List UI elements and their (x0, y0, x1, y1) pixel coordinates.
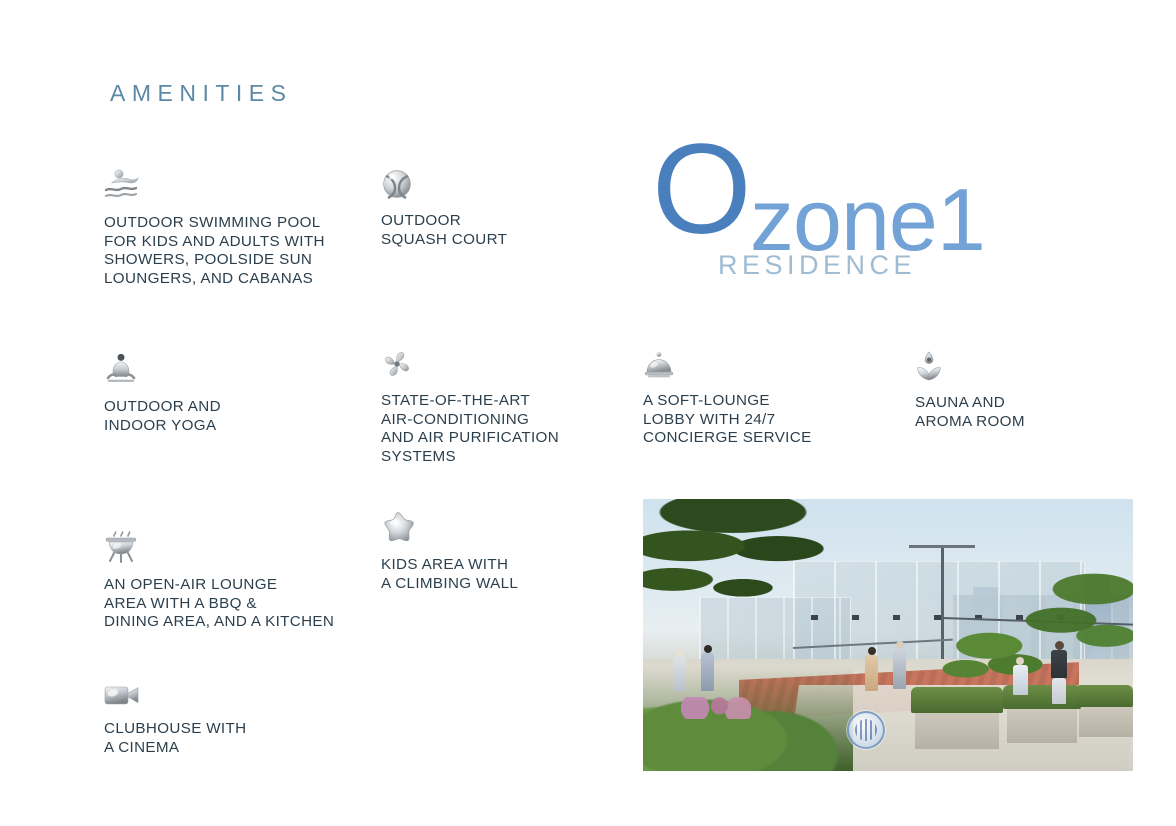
amenity-label: SAUNA AND AROMA ROOM (915, 394, 1115, 431)
amenity-label: AN OPEN-AIR LOUNGE AREA WITH A BBQ & DIN… (104, 576, 394, 632)
rooftop-terrace-photo (643, 499, 1133, 771)
squash-ball-icon (381, 168, 413, 200)
photo-watermark (847, 711, 885, 749)
photo-planter (915, 709, 999, 749)
photo-mast-arm (909, 545, 975, 548)
amenity-item-bbq-lounge: AN OPEN-AIR LOUNGE AREA WITH A BBQ & DIN… (104, 528, 394, 632)
photo-person (865, 647, 878, 691)
amenity-label: STATE-OF-THE-ART AIR-CONDITIONING AND AI… (381, 392, 611, 466)
brand-logo: O zone1 RESIDENCE (652, 132, 982, 292)
amenity-item-concierge-lobby: A SOFT-LOUNGE LOBBY WITH 24/7 CONCIERGE … (643, 350, 883, 448)
photo-flowers (681, 697, 751, 719)
photo-person (701, 645, 714, 691)
photo-planter (1079, 705, 1133, 737)
amenity-item-air-conditioning: STATE-OF-THE-ART AIR-CONDITIONING AND AI… (381, 348, 611, 466)
amenity-label: OUTDOOR SQUASH COURT (381, 212, 601, 249)
photo-person-standing (1051, 641, 1067, 704)
star-kids-icon (381, 510, 415, 544)
video-camera-icon (104, 682, 140, 708)
amenity-label: KIDS AREA WITH A CLIMBING WALL (381, 556, 581, 593)
logo-initial: O (652, 126, 750, 254)
amenity-label: OUTDOOR SWIMMING POOL FOR KIDS AND ADULT… (104, 214, 374, 288)
amenity-label: A SOFT-LOUNGE LOBBY WITH 24/7 CONCIERGE … (643, 392, 883, 448)
yoga-meditation-icon (104, 352, 138, 386)
photo-person-seated (1013, 657, 1028, 695)
photo-person (893, 641, 906, 689)
amenity-item-clubhouse-cinema: CLUBHOUSE WITH A CINEMA (104, 682, 324, 757)
amenity-item-kids-climbing-wall: KIDS AREA WITH A CLIMBING WALL (381, 510, 581, 593)
page-title: AMENITIES (110, 80, 292, 107)
air-conditioning-fan-icon (381, 348, 413, 380)
photo-tree-canopy (643, 499, 883, 627)
amenity-label: CLUBHOUSE WITH A CINEMA (104, 720, 324, 757)
logo-subtitle: RESIDENCE (718, 250, 916, 281)
swimming-pool-icon (104, 168, 148, 202)
photo-planter (1007, 707, 1077, 743)
concierge-bell-icon (643, 350, 675, 380)
photo-person (673, 649, 686, 691)
brochure-page: AMENITIES OUTDOOR SWIMMING POOL FOR KIDS… (0, 0, 1176, 826)
logo-mark: O zone1 RESIDENCE (652, 132, 982, 244)
amenity-item-yoga: OUTDOOR AND INDOOR YOGA (104, 352, 354, 435)
amenity-item-squash-court: OUTDOOR SQUASH COURT (381, 168, 601, 249)
amenity-label: OUTDOOR AND INDOOR YOGA (104, 398, 354, 435)
amenity-item-sauna-aroma: SAUNA AND AROMA ROOM (915, 350, 1115, 431)
amenity-item-swimming-pool: OUTDOOR SWIMMING POOL FOR KIDS AND ADULT… (104, 168, 374, 288)
bbq-grill-icon (104, 528, 138, 564)
spa-lotus-icon (915, 350, 943, 382)
